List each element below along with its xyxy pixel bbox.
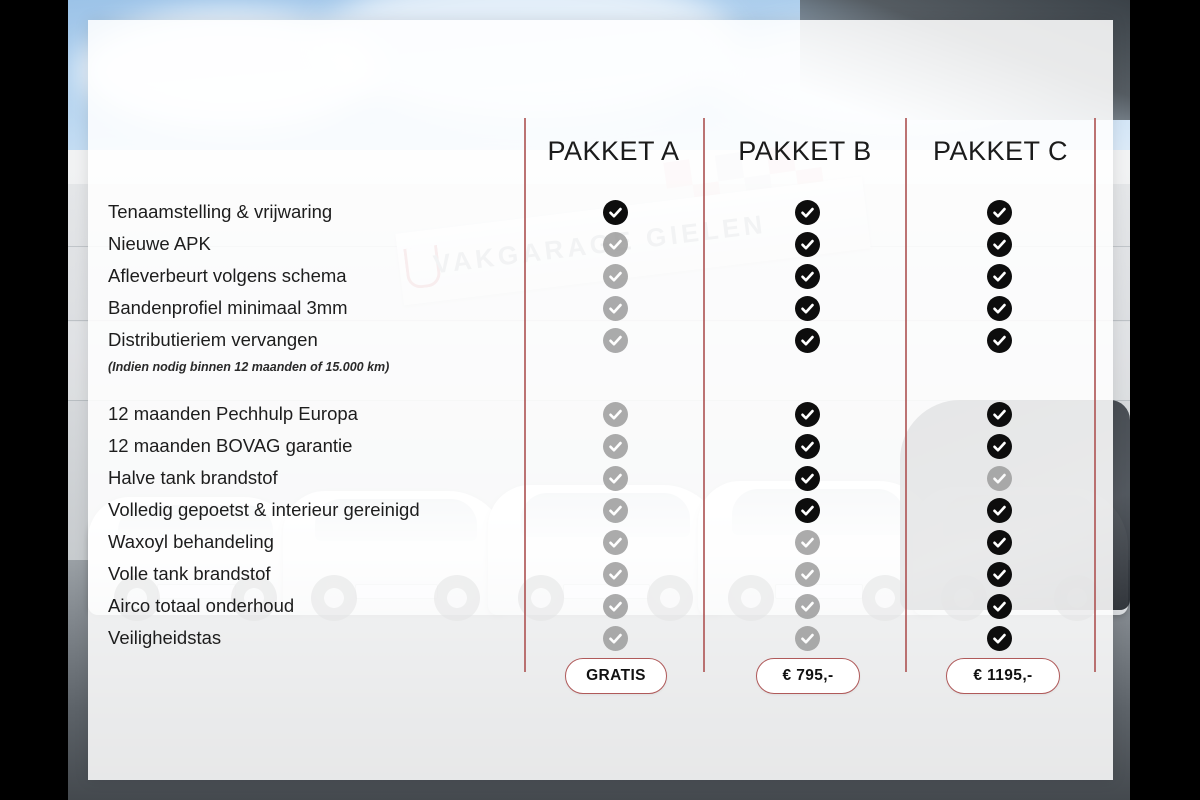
- check-icon-inactive: [603, 466, 628, 491]
- feature-row: Nieuwe APK: [108, 228, 538, 260]
- check-icon-inactive: [795, 594, 820, 619]
- feature-row: Halve tank brandstof: [108, 462, 538, 494]
- feature-row: 12 maanden Pechhulp Europa: [108, 398, 538, 430]
- check-cell: [777, 622, 837, 654]
- feature-label: Waxoyl behandeling: [108, 532, 274, 551]
- feature-row: Volledig gepoetst & interieur gereinigd: [108, 494, 538, 526]
- column-divider: [905, 118, 907, 672]
- check-cell: [777, 292, 837, 324]
- check-cell: [969, 558, 1029, 590]
- check-icon-inactive: [603, 328, 628, 353]
- check-cell: [585, 398, 645, 430]
- check-icon-active: [603, 200, 628, 225]
- check-cell: [585, 622, 645, 654]
- feature-label: 12 maanden Pechhulp Europa: [108, 404, 358, 423]
- check-icon-active: [795, 200, 820, 225]
- check-icon-inactive: [795, 530, 820, 555]
- check-icon-active: [987, 434, 1012, 459]
- check-icon-inactive: [603, 594, 628, 619]
- check-cell: [585, 526, 645, 558]
- check-cell: [777, 260, 837, 292]
- check-cell: [585, 430, 645, 462]
- check-column-pakket-b: [777, 196, 837, 654]
- check-cell: [585, 590, 645, 622]
- check-cell: [777, 430, 837, 462]
- check-cell: [777, 590, 837, 622]
- check-cell: [585, 558, 645, 590]
- check-column-pakket-c: [969, 196, 1029, 654]
- column-divider: [703, 118, 705, 672]
- feature-label: Veiligheidstas: [108, 628, 221, 647]
- check-cell: [969, 494, 1029, 526]
- column-header-pakket-c: PAKKET C: [907, 136, 1094, 167]
- price-row: GRATIS € 795,- € 1195,-: [88, 658, 1113, 698]
- check-cell: [777, 196, 837, 228]
- check-cell: [585, 228, 645, 260]
- check-cell: [969, 292, 1029, 324]
- check-cell: [969, 526, 1029, 558]
- feature-label: Volle tank brandstof: [108, 564, 271, 583]
- check-cell: [777, 494, 837, 526]
- check-icon-inactive: [603, 296, 628, 321]
- price-button-pakket-c[interactable]: € 1195,-: [946, 658, 1060, 694]
- check-cell: [969, 324, 1029, 356]
- check-icon-active: [987, 626, 1012, 651]
- screenshot-stage: VAKGARAGE GIELEN: [0, 0, 1200, 800]
- feature-row: Volle tank brandstof: [108, 558, 538, 590]
- check-column-pakket-a: [585, 196, 645, 654]
- check-icon-inactive: [603, 232, 628, 257]
- check-icon-active: [795, 296, 820, 321]
- check-icon-inactive: [603, 626, 628, 651]
- feature-label-column: Tenaamstelling & vrijwaring Nieuwe APK A…: [108, 196, 538, 654]
- check-cell: [585, 324, 645, 356]
- check-cell: [969, 196, 1029, 228]
- check-icon-active: [987, 232, 1012, 257]
- check-icon-active: [795, 264, 820, 289]
- check-icon-active: [987, 530, 1012, 555]
- feature-row: Waxoyl behandeling: [108, 526, 538, 558]
- check-cell: [777, 558, 837, 590]
- check-cell: [969, 260, 1029, 292]
- check-icon-inactive: [603, 530, 628, 555]
- feature-label: Afleverbeurt volgens schema: [108, 266, 347, 285]
- feature-row: 12 maanden BOVAG garantie: [108, 430, 538, 462]
- check-icon-inactive: [795, 626, 820, 651]
- check-icon-active: [795, 328, 820, 353]
- check-icon-inactive: [603, 402, 628, 427]
- feature-label: Halve tank brandstof: [108, 468, 278, 487]
- check-cell: [777, 462, 837, 494]
- group-spacer: [777, 378, 837, 398]
- group-spacer: [108, 378, 538, 398]
- check-cell: [777, 398, 837, 430]
- feature-row: Tenaamstelling & vrijwaring: [108, 196, 538, 228]
- check-cell: [969, 622, 1029, 654]
- check-cell: [969, 228, 1029, 260]
- check-cell: [585, 196, 645, 228]
- check-icon-active: [795, 402, 820, 427]
- check-icon-active: [987, 402, 1012, 427]
- feature-label: Volledig gepoetst & interieur gereinigd: [108, 500, 420, 519]
- check-cell: [585, 292, 645, 324]
- check-cell: [585, 494, 645, 526]
- check-cell: [969, 398, 1029, 430]
- feature-row: Airco totaal onderhoud: [108, 590, 538, 622]
- check-icon-active: [987, 264, 1012, 289]
- letterbox-bar-left: [0, 0, 68, 800]
- feature-label: Nieuwe APK: [108, 234, 211, 253]
- check-icon-active: [795, 466, 820, 491]
- check-cell: [969, 462, 1029, 494]
- price-button-pakket-b[interactable]: € 795,-: [756, 658, 860, 694]
- check-icon-active: [987, 200, 1012, 225]
- feature-label: 12 maanden BOVAG garantie: [108, 436, 352, 455]
- check-cell: [777, 228, 837, 260]
- comparison-table: PAKKET A PAKKET B PAKKET C Tenaamstellin…: [88, 20, 1113, 780]
- feature-label: Bandenprofiel minimaal 3mm: [108, 298, 348, 317]
- letterbox-bar-right: [1130, 0, 1200, 800]
- feature-label: Airco totaal onderhoud: [108, 596, 294, 615]
- group-spacer: [585, 378, 645, 398]
- check-icon-inactive: [795, 562, 820, 587]
- check-icon-active: [795, 498, 820, 523]
- check-cell: [777, 526, 837, 558]
- check-icon-inactive: [987, 466, 1012, 491]
- check-icon-active: [987, 562, 1012, 587]
- check-cell: [777, 324, 837, 356]
- check-cell: [585, 260, 645, 292]
- check-icon-active: [987, 498, 1012, 523]
- note-spacer: [777, 356, 837, 378]
- column-header-pakket-b: PAKKET B: [705, 136, 905, 167]
- check-cell: [969, 590, 1029, 622]
- feature-row: Afleverbeurt volgens schema: [108, 260, 538, 292]
- note-spacer: [585, 356, 645, 378]
- check-icon-active: [987, 328, 1012, 353]
- check-icon-inactive: [603, 562, 628, 587]
- check-icon-active: [795, 232, 820, 257]
- group-spacer: [969, 378, 1029, 398]
- check-cell: [969, 430, 1029, 462]
- feature-label: Distributieriem vervangen: [108, 330, 318, 349]
- price-button-pakket-a[interactable]: GRATIS: [565, 658, 667, 694]
- check-icon-active: [795, 434, 820, 459]
- feature-row: Veiligheidstas: [108, 622, 538, 654]
- feature-label: Tenaamstelling & vrijwaring: [108, 202, 332, 221]
- feature-row: Distributieriem vervangen: [108, 324, 538, 356]
- check-icon-inactive: [603, 264, 628, 289]
- check-icon-inactive: [603, 434, 628, 459]
- check-icon-active: [987, 296, 1012, 321]
- check-icon-active: [987, 594, 1012, 619]
- column-header-pakket-a: PAKKET A: [524, 136, 703, 167]
- check-cell: [585, 462, 645, 494]
- check-icon-inactive: [603, 498, 628, 523]
- feature-note: (Indien nodig binnen 12 maanden of 15.00…: [108, 356, 538, 378]
- note-spacer: [969, 356, 1029, 378]
- column-divider: [1094, 118, 1096, 672]
- feature-row: Bandenprofiel minimaal 3mm: [108, 292, 538, 324]
- package-comparison-card: PAKKET A PAKKET B PAKKET C Tenaamstellin…: [88, 20, 1113, 780]
